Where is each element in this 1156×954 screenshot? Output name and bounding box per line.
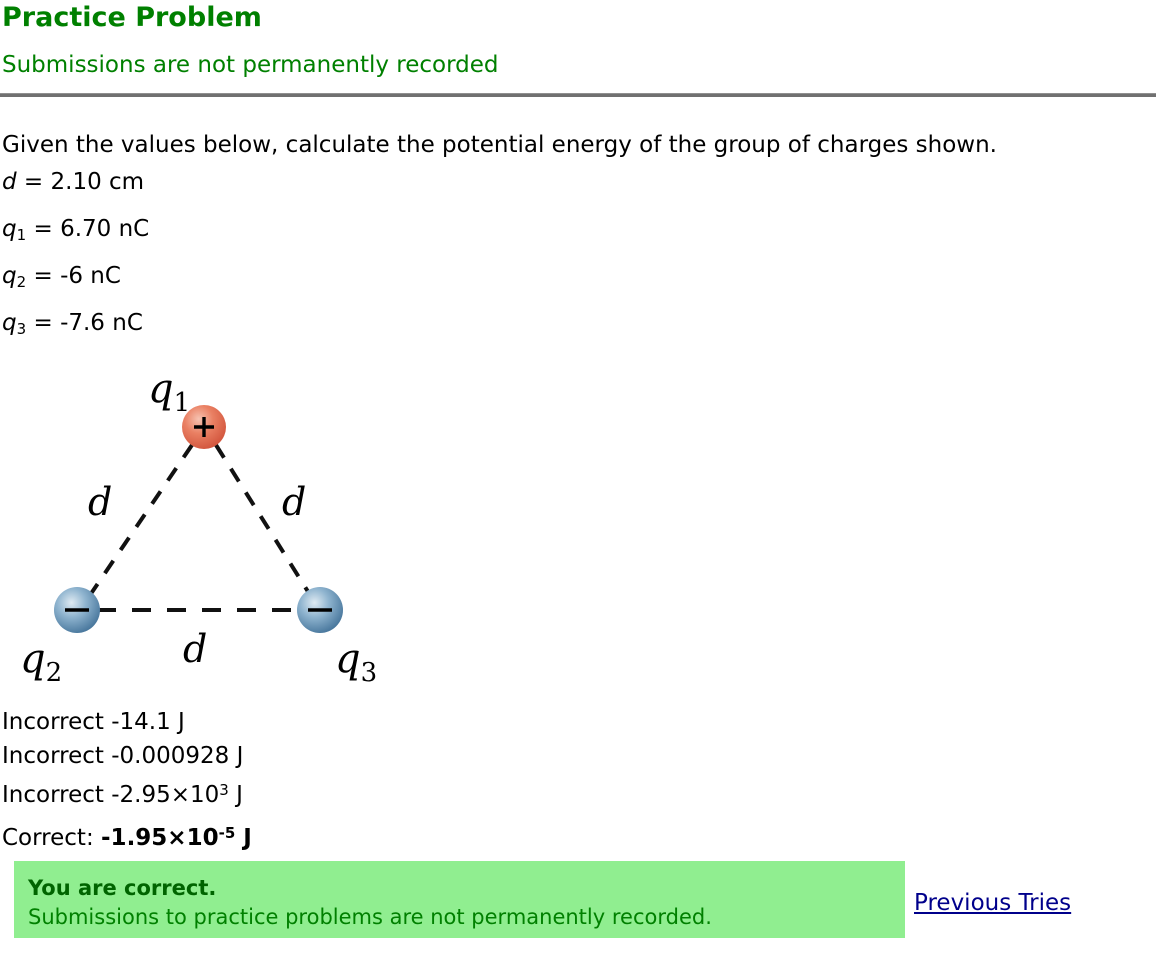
given-value-q2: q2 = -6 nC [2,256,1156,303]
given-subscript: 1 [17,226,27,244]
charge-q2 [54,587,100,633]
feedback-banner: You are correct. Submissions to practice… [14,861,905,938]
given-symbol: q [2,263,17,289]
problem-statement: Given the values below, calculate the po… [2,128,1156,350]
answer-attempt-2: Incorrect -0.000928 J [2,739,702,773]
given-equals: = [33,263,52,289]
answer-status: Incorrect [2,782,104,808]
charge-label-q3: q3 [335,636,377,688]
feedback-title: You are correct. [28,874,905,902]
given-value: -6 nC [60,263,121,289]
answer-mantissa: -2.95×10 [111,782,219,808]
given-equals: = [33,310,52,336]
answer-attempt-3: Incorrect -2.95×103 J [2,773,702,812]
answer-exponent: 3 [219,781,229,799]
given-symbol: q [2,310,17,336]
given-subscript: 2 [17,273,27,291]
given-equals: = [24,169,43,195]
side-label-d-right: d [282,480,306,524]
answer-correct: Correct: -1.95×10-5 J [2,812,702,859]
charge-q3 [297,587,343,633]
answer-exponent: -5 [219,824,236,842]
page-title: Practice Problem [2,2,262,33]
given-value: -7.6 nC [60,310,143,336]
charge-label-q2: q2 [20,636,62,688]
charge-configuration-diagram: q1 q2 q3 d d d [0,340,420,690]
answer-value: -0.000928 J [111,743,243,769]
answer-status: Incorrect [2,709,104,735]
answer-value: -14.1 J [111,709,185,735]
submitted-answers-list: Incorrect -14.1 J Incorrect -0.000928 J … [2,705,702,859]
charge-label-q1: q1 [148,366,190,418]
answer-unit: J [235,825,252,851]
page-subtitle: Submissions are not permanently recorded [2,52,499,78]
side-label-d-left: d [88,480,112,524]
feedback-message: Submissions to practice problems are not… [28,902,905,932]
answer-mantissa: -1.95×10 [101,825,219,851]
previous-tries-link[interactable]: Previous Tries [914,890,1071,916]
problem-prompt: Given the values below, calculate the po… [2,128,1156,162]
answer-attempt-1: Incorrect -14.1 J [2,705,702,739]
given-symbol: d [2,169,17,195]
given-value-d: d = 2.10 cm [2,162,1156,209]
answer-status: Correct: [2,825,94,851]
answer-status: Incorrect [2,743,104,769]
given-value-q1: q1 = 6.70 nC [2,209,1156,256]
given-value: 2.10 cm [51,169,145,195]
answer-unit: J [229,782,243,808]
given-equals: = [33,216,52,242]
given-symbol: q [2,216,17,242]
given-subscript: 3 [17,320,27,338]
header-divider [0,93,1156,97]
given-value: 6.70 nC [60,216,149,242]
side-label-d-bottom: d [183,627,207,671]
